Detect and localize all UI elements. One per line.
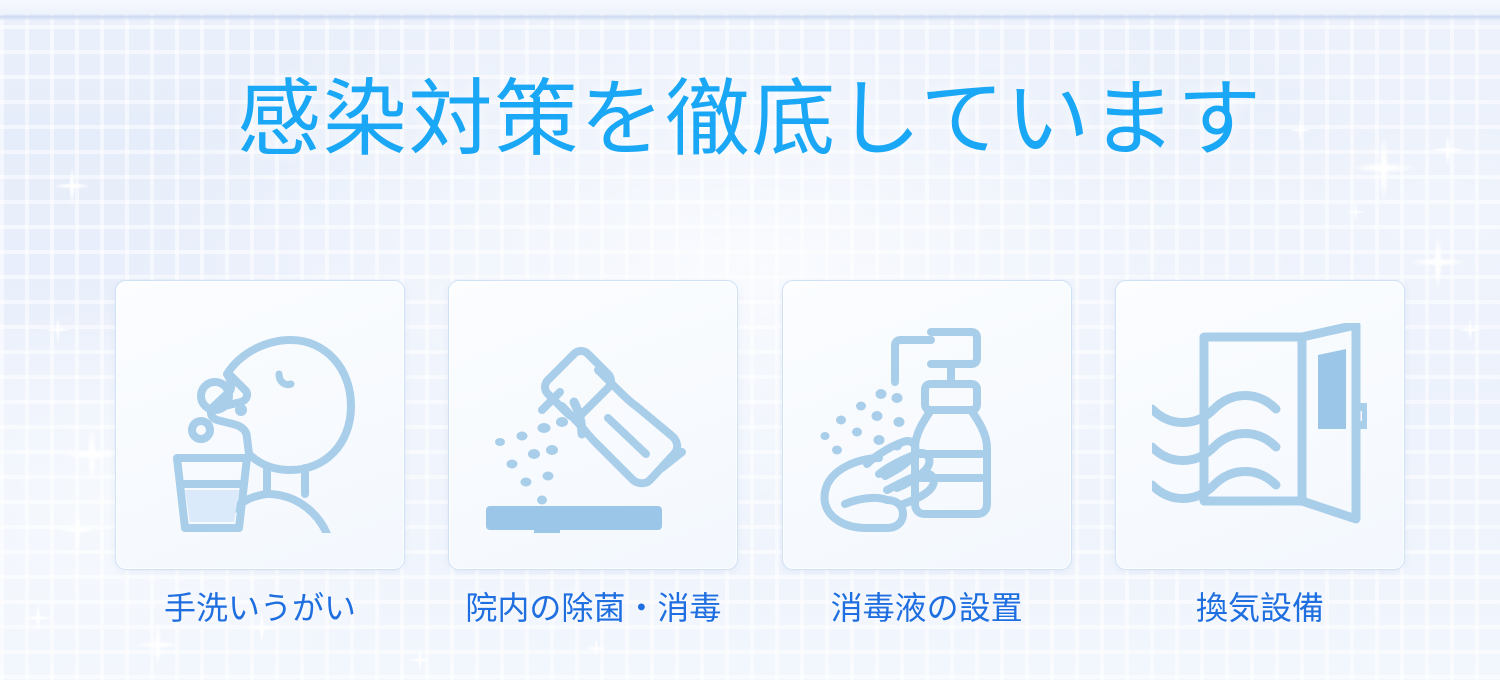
sparkle-star-icon [585,637,607,659]
card-label-sanitizer-station: 消毒液の設置 [782,588,1072,628]
sparkle-star-icon [1410,234,1466,290]
sparkle-star-icon [23,603,53,633]
card-clinic-disinfection [448,280,738,570]
sparkle-star-icon [63,426,121,484]
card-ventilation [1115,280,1405,570]
open-door-airflow-icon [1152,323,1367,528]
sparkle-star-icon [1346,202,1366,222]
card-label-clinic-disinfection: 院内の除菌・消毒 [448,588,738,628]
sparkle-star-icon [407,647,433,673]
gargling-person-with-glass-icon [155,318,365,533]
sparkle-star-icon [45,317,71,343]
top-divider-rule [0,14,1500,21]
card-sanitizer-station [782,280,1072,570]
spray-bottle-disinfecting-table-icon [486,318,701,533]
top-background-cap [0,0,1500,14]
sparkle-star-icon [58,510,98,550]
card-label-ventilation: 換気設備 [1115,588,1405,628]
card-handwash-gargle [115,280,405,570]
sparkle-star-icon [1458,318,1482,342]
page-title: 感染対策を徹底しています [0,76,1500,167]
sparkle-star-icon [135,622,181,668]
card-label-handwash-gargle: 手洗いうがい [115,588,405,628]
infection-control-banner: 感染対策を徹底しています [0,0,1500,680]
hand-sanitizer-pump-bottle-icon [819,318,1034,533]
sparkle-star-icon [53,167,91,205]
measures-label-row: 手洗いうがい 院内の除菌・消毒 消毒液の設置 換気設備 [115,588,1405,628]
measures-card-row [115,280,1405,570]
